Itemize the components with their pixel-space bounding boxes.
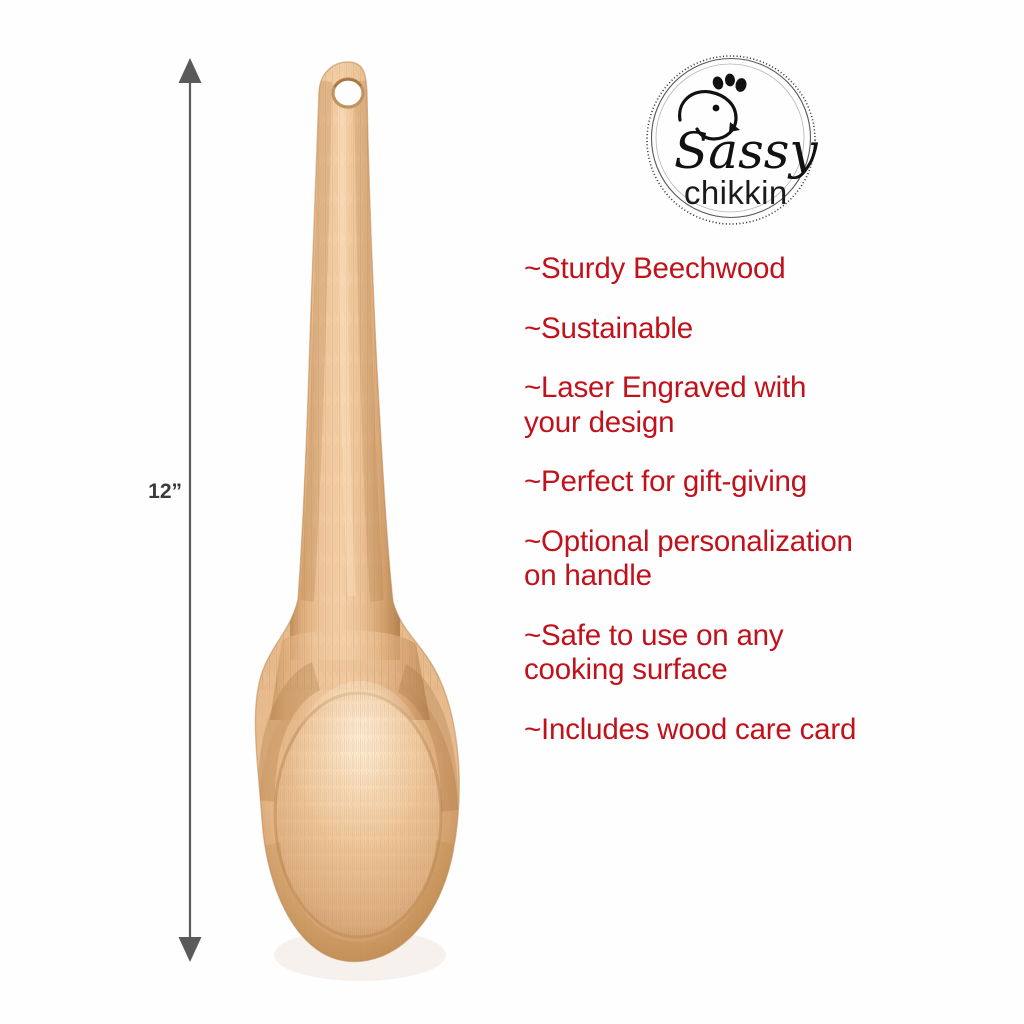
feature-item-gift-giving: ~Perfect for gift-giving	[524, 465, 1002, 500]
product-image-wooden-spoon	[220, 40, 520, 990]
chicken-eye	[713, 105, 720, 112]
feature-item-sturdy-beechwood: ~Sturdy Beechwood	[524, 252, 1002, 287]
comb-dot-3	[734, 77, 748, 93]
feature-item-safe-cooking-surface: ~Safe to use on any cooking surface	[524, 619, 1002, 688]
logo-script-text: Sassy	[674, 122, 818, 180]
feature-list: ~Sturdy Beechwood ~Sustainable ~Laser En…	[524, 252, 1002, 772]
feature-item-sustainable: ~Sustainable	[524, 312, 1002, 347]
feature-item-wood-care-card: ~Includes wood care card	[524, 713, 1002, 748]
product-infographic: 12”	[0, 0, 1024, 1024]
comb-dot-1	[711, 75, 725, 91]
feature-item-laser-engraved: ~Laser Engraved with your design	[524, 371, 1002, 440]
wooden-spoon-illustration	[220, 40, 520, 990]
logo-badge-svg: Sassy chikkin	[644, 52, 818, 226]
feature-item-optional-personalization: ~Optional personalization on handle	[524, 525, 1002, 594]
logo-sub-text: chikkin	[684, 174, 788, 211]
comb-dot-2	[725, 73, 736, 86]
dimension-label: 12”	[130, 481, 182, 502]
sassy-chikkin-logo: Sassy chikkin	[644, 52, 818, 226]
hanging-hole	[333, 79, 363, 107]
